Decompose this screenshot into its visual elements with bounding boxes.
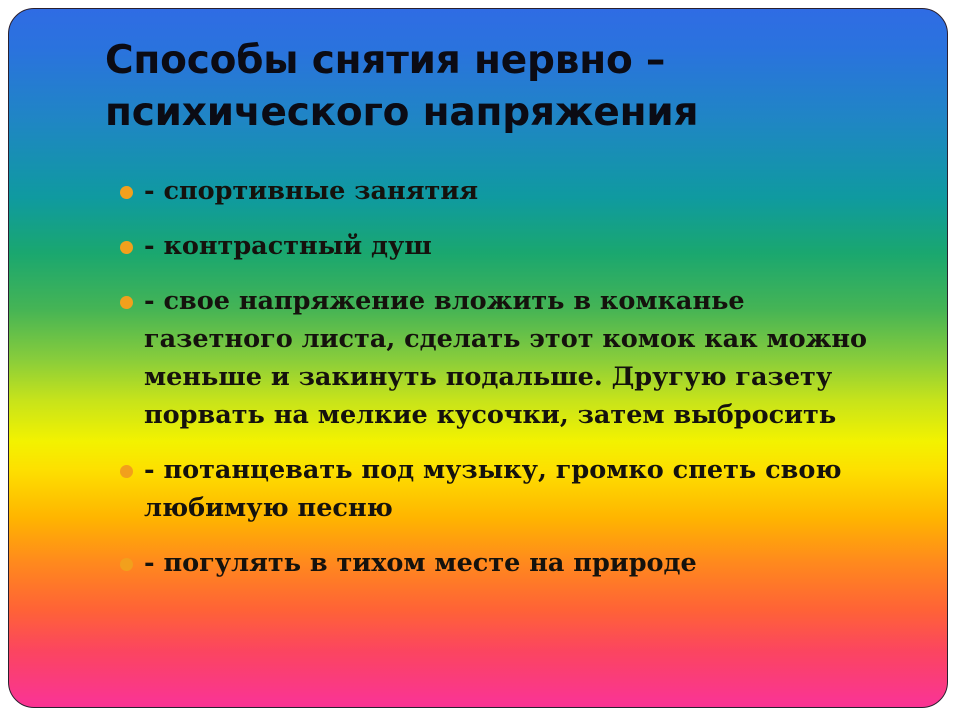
list-item-text: - контрастный душ <box>144 227 883 265</box>
slide-title: Способы снятия нервно – психического нап… <box>105 35 895 139</box>
list-item: - спортивные занятия <box>113 172 883 210</box>
list-item-text: - потанцевать под музыку, громко спеть с… <box>144 451 883 527</box>
list-item: - потанцевать под музыку, громко спеть с… <box>113 451 883 527</box>
bullet-dot-icon <box>120 558 133 571</box>
list-item: - погулять в тихом месте на природе <box>113 544 883 582</box>
list-item-text: - свое напряжение вложить в комканье газ… <box>144 282 883 434</box>
bullet-dot-icon <box>120 186 133 199</box>
slide-root: Способы снятия нервно – психического нап… <box>0 0 960 720</box>
list-item: - свое напряжение вложить в комканье газ… <box>113 282 883 434</box>
bullet-list: - спортивные занятия - контрастный душ -… <box>113 172 883 582</box>
bullet-dot-icon <box>120 296 133 309</box>
bullet-dot-icon <box>120 465 133 478</box>
slide-title-line-2: психического напряжения <box>105 87 895 139</box>
list-item: - контрастный душ <box>113 227 883 265</box>
list-item-text: - спортивные занятия <box>144 172 883 210</box>
list-item-text: - погулять в тихом месте на природе <box>144 544 883 582</box>
slide-title-line-1: Способы снятия нервно – <box>105 35 895 87</box>
bullet-dot-icon <box>120 241 133 254</box>
slide-canvas: Способы снятия нервно – психического нап… <box>8 8 948 708</box>
